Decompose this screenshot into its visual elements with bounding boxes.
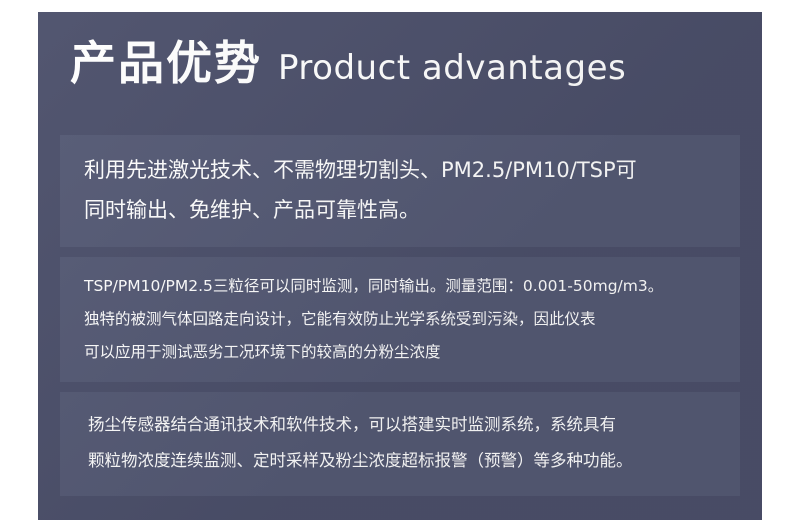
- heading-title-english: Product advantages: [278, 51, 626, 85]
- advantage-line: 独特的被测气体回路走向设计，它能有效防止光学系统受到污染，因此仪表: [84, 306, 716, 333]
- advantage-line: 扬尘传感器结合通讯技术和软件技术，可以搭建实时监测系统，系统具有: [88, 410, 716, 440]
- heading-title-chinese: 产品优势: [70, 40, 262, 86]
- advantage-block: 扬尘传感器结合通讯技术和软件技术，可以搭建实时监测系统，系统具有 颗粒物浓度连续…: [60, 392, 740, 496]
- slide-heading: 产品优势 Product advantages: [70, 40, 626, 86]
- advantage-line: TSP/PM10/PM2.5三粒径可以同时监测，同时输出。测量范围：0.001-…: [84, 273, 716, 300]
- advantage-block: 利用先进激光技术、不需物理切割头、PM2.5/PM10/TSP可 同时输出、免维…: [60, 135, 740, 247]
- advantage-line: 可以应用于测试恶劣工况环境下的较高的分粉尘浓度: [84, 339, 716, 366]
- advantage-block: TSP/PM10/PM2.5三粒径可以同时监测，同时输出。测量范围：0.001-…: [60, 257, 740, 382]
- advantage-line: 利用先进激光技术、不需物理切割头、PM2.5/PM10/TSP可: [84, 153, 716, 187]
- advantage-line: 颗粒物浓度连续监测、定时采样及粉尘浓度超标报警（预警）等多种功能。: [88, 446, 716, 476]
- content-panel: 产品优势 Product advantages 利用先进激光技术、不需物理切割头…: [38, 12, 762, 520]
- advantage-blocks: 利用先进激光技术、不需物理切割头、PM2.5/PM10/TSP可 同时输出、免维…: [60, 135, 740, 496]
- advantage-line: 同时输出、免维护、产品可靠性高。: [84, 193, 716, 227]
- slide-root: 产品优势 Product advantages 利用先进激光技术、不需物理切割头…: [0, 0, 800, 531]
